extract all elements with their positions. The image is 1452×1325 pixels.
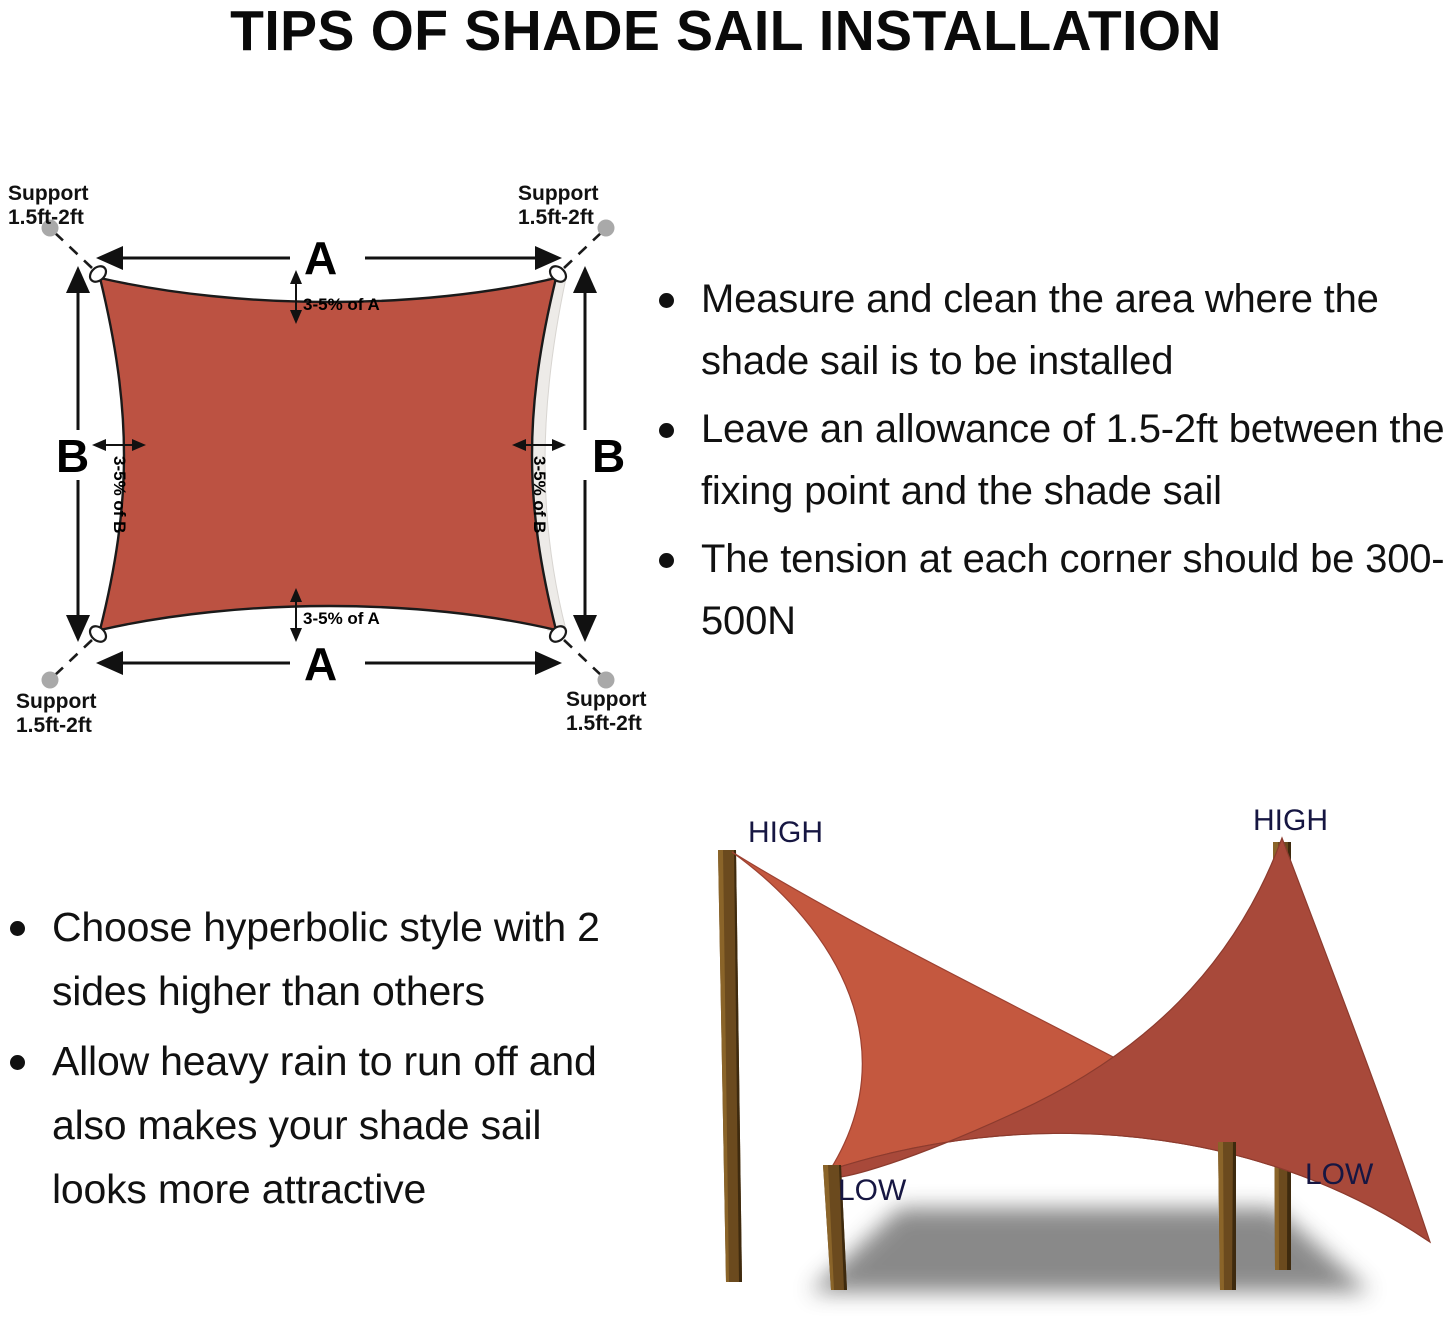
support-label-top-right-line2: 1.5ft-2ft [518,206,594,229]
list-item-text: Leave an allowance of 1.5-2ft between th… [701,407,1444,513]
corner-label-high-right: HIGH [1253,804,1328,837]
corner-label-low-left: LOW [838,1174,907,1207]
support-label-top-left-line1: Support [8,182,88,205]
hyperbolic-tips-list: Choose hyperbolic style with 2 sides hig… [0,895,620,1221]
shade-sail-shape [100,278,556,630]
installation-tips-section: Measure and clean the area where the sha… [645,268,1452,658]
installation-tips-list: Measure and clean the area where the sha… [645,268,1452,652]
support-line-top-right [564,232,602,268]
dimension-label-b-left: B [56,430,89,482]
list-item-text: Choose hyperbolic style with 2 sides hig… [52,904,600,1014]
list-item: Leave an allowance of 1.5-2ft between th… [645,398,1452,522]
curve-depth-label-top: 3-5% of A [303,295,380,314]
corner-label-high-left: HIGH [748,816,823,849]
support-label-top-left-line2: 1.5ft-2ft [8,206,84,229]
support-line-bottom-right [564,640,602,676]
support-line-top-left [54,232,92,268]
support-label-bottom-left-line1: Support [16,690,96,713]
support-label-bottom-right-line1: Support [566,688,646,711]
bullet-icon [10,921,25,936]
dimension-label-a-top: A [304,232,337,284]
list-item: Choose hyperbolic style with 2 sides hig… [0,895,620,1023]
list-item: Measure and clean the area where the sha… [645,268,1452,392]
list-item-text: Measure and clean the area where the sha… [701,277,1379,383]
list-item: The tension at each corner should be 300… [645,528,1452,652]
list-item-text: The tension at each corner should be 300… [701,537,1444,643]
post-high-left [718,850,742,1282]
curve-depth-label-right: 3-5% of B [530,456,549,533]
list-item: Allow heavy rain to run off and also mak… [0,1029,620,1221]
bullet-icon [10,1055,25,1070]
support-line-bottom-left [54,640,92,676]
support-dot-top-right [598,220,615,237]
support-dot-bottom-right [598,672,615,689]
corner-label-low-right: LOW [1305,1158,1374,1191]
support-dot-bottom-left [42,672,59,689]
support-label-bottom-left-line2: 1.5ft-2ft [16,714,92,737]
support-label-top-right-line1: Support [518,182,598,205]
rectangular-sail-diagram: Support 1.5ft-2ft Support 1.5ft-2ft Supp… [0,160,660,740]
post-low-right [1218,1142,1236,1290]
dimension-label-a-bottom: A [304,638,337,690]
page-title: TIPS OF SHADE SAIL INSTALLATION [22,0,1430,70]
bullet-icon [659,423,674,438]
curve-depth-label-left: 3-5% of B [110,456,129,533]
bullet-icon [659,553,674,568]
support-label-bottom-right-line2: 1.5ft-2ft [566,712,642,735]
hyperbolic-tips-section: Choose hyperbolic style with 2 sides hig… [0,895,620,1227]
hyperbolic-sail-diagram: HIGH HIGH LOW LOW [690,790,1452,1325]
dimension-label-b-right: B [592,430,625,482]
bullet-icon [659,293,674,308]
curve-depth-label-bottom: 3-5% of A [303,609,380,628]
list-item-text: Allow heavy rain to run off and also mak… [52,1038,597,1212]
